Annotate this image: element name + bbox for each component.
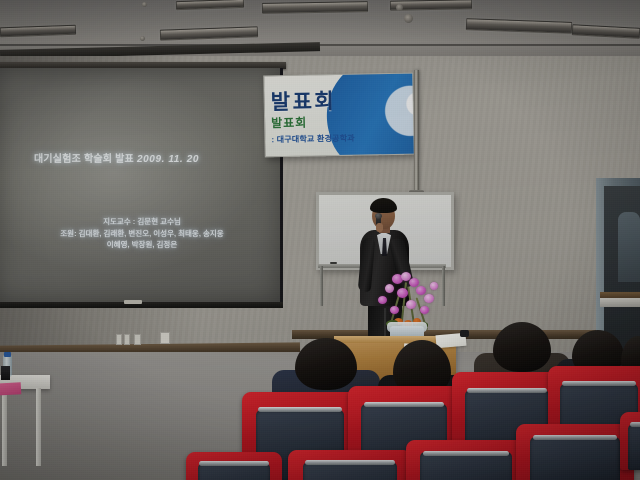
slide-members-line-1: 조원: 김대환, 김래환, 변진오, 이성우, 최태웅, 송지웅	[18, 228, 266, 240]
presenter-hand	[376, 223, 383, 232]
chair-back-cushion	[628, 424, 640, 470]
photo-scene: 대기실험조 학술회 발표 2009. 11. 20 지도교수 : 김문현 교수님…	[0, 0, 640, 480]
smoke-detector-icon	[396, 4, 403, 11]
wall-outlet-a[interactable]	[116, 334, 122, 345]
person-in-doorway	[618, 212, 640, 282]
chair-chrome-trim	[467, 388, 546, 393]
banner-subtitle: : 대구대학교 환경공학과	[271, 133, 355, 146]
auditorium-chair[interactable]	[186, 452, 282, 480]
banner-title-green: 발표회	[271, 114, 307, 132]
orchid-bloom	[424, 294, 434, 303]
slide-title-date: 2009. 11. 20	[137, 154, 199, 165]
orchid-bloom	[378, 296, 387, 304]
orchid-bloom	[406, 300, 416, 309]
bottle-cap[interactable]	[4, 352, 11, 357]
audience-head	[295, 338, 357, 390]
screen-surface	[0, 68, 283, 305]
slide-title-text: 대기실험조 학술회 발표	[34, 154, 134, 165]
chair-chrome-trim	[630, 422, 640, 427]
side-table-leg-1	[36, 388, 41, 466]
dark-device-on-table[interactable]	[1, 366, 10, 380]
chair-chrome-trim	[258, 407, 342, 412]
orchid-bloom	[430, 282, 438, 290]
chair-chrome-trim	[533, 435, 618, 440]
table-dark-object[interactable]	[460, 330, 469, 337]
purple-orchid-plant	[370, 272, 446, 344]
orchid-bloom	[390, 306, 399, 314]
ceiling-seam	[0, 44, 640, 46]
chair-chrome-trim	[305, 460, 394, 465]
chair-chrome-trim	[364, 402, 445, 407]
orchid-bloom	[420, 306, 429, 314]
slide-title: 대기실험조 학술회 발표 2009. 11. 20	[34, 150, 246, 165]
smoke-detector-icon	[140, 36, 145, 41]
auditorium-chair[interactable]	[516, 424, 634, 480]
orchid-bloom	[416, 286, 426, 295]
banner-title-large: 발표회	[270, 85, 336, 116]
wall-outlet-c[interactable]	[134, 334, 141, 345]
pink-paper-sheet[interactable]	[0, 382, 21, 395]
smoke-detector-icon	[142, 2, 147, 7]
smoke-detector-icon	[404, 14, 413, 23]
doorway-ledge	[600, 298, 640, 307]
slide-members-line-2: 이혜영, 박장원, 김정은	[18, 239, 266, 251]
wall-socket[interactable]	[160, 332, 170, 344]
auditorium-chair[interactable]	[288, 450, 412, 480]
auditorium-chair[interactable]	[406, 440, 526, 480]
slide-advisor-line: 지도교수 : 김문현 교수님	[18, 216, 266, 228]
presenter-hair	[370, 198, 397, 213]
chair-chrome-trim	[562, 381, 635, 386]
screen-pull-tab[interactable]	[124, 300, 142, 304]
whiteboard-marker[interactable]	[330, 262, 337, 264]
side-table-leg-2	[2, 388, 7, 466]
slide-subtext: 지도교수 : 김문현 교수님 조원: 김대환, 김래환, 변진오, 이성우, 최…	[18, 216, 266, 251]
whiteboard-leg-left	[320, 266, 323, 306]
banner-support-pole	[414, 70, 419, 192]
event-banner: 발표회 발표회 : 대구대학교 환경공학과	[263, 73, 415, 158]
orchid-bloom	[397, 288, 408, 298]
chair-chrome-trim	[423, 451, 509, 456]
chair-back-cushion	[530, 437, 620, 480]
projection-screen	[0, 62, 286, 310]
auditorium-chair[interactable]	[620, 412, 640, 470]
chair-chrome-trim	[199, 461, 268, 466]
wall-outlet-b[interactable]	[124, 334, 130, 345]
ceiling-light-fixture	[262, 1, 368, 14]
microphone-icon[interactable]	[375, 213, 382, 219]
chair-back-cushion	[420, 452, 511, 480]
audience-head	[493, 322, 551, 372]
orchid-bloom	[385, 284, 394, 293]
